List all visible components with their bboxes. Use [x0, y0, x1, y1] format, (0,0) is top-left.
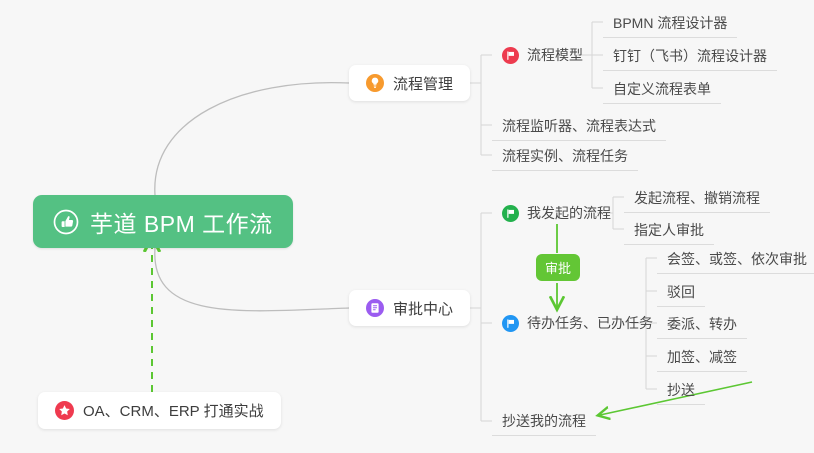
node-label-process-instance-task: 流程实例、流程任务	[502, 146, 628, 166]
root-node[interactable]: 芋道 BPM 工作流	[33, 195, 293, 248]
footnote-label-integration: OA、CRM、ERP 打通实战	[83, 400, 264, 421]
node-label-multi-sign: 会签、或签、依次审批	[667, 249, 807, 269]
node-label-assignee-approval: 指定人审批	[634, 220, 704, 240]
annotation-approval-label: 审批	[545, 258, 571, 277]
node-delegate-transfer[interactable]: 委派、转办	[657, 309, 747, 339]
node-process-listener-expression[interactable]: 流程监听器、流程表达式	[492, 111, 666, 141]
node-label-start-cancel-process: 发起流程、撤销流程	[634, 188, 760, 208]
node-label-my-started-process: 我发起的流程	[527, 203, 611, 223]
flag-icon	[502, 47, 519, 64]
node-dingtalk-feishu-designer[interactable]: 钉钉（飞书）流程设计器	[603, 41, 777, 71]
annotation-approval: 审批	[536, 254, 580, 281]
node-assignee-approval[interactable]: 指定人审批	[624, 215, 714, 245]
node-label-cc-to-me-process: 抄送我的流程	[502, 411, 586, 431]
node-bpmn-designer[interactable]: BPMN 流程设计器	[603, 8, 737, 38]
node-cc-to-me-process[interactable]: 抄送我的流程	[492, 406, 596, 436]
mindmap-canvas: 芋道 BPM 工作流 流程管理 流程模型 BPMN 流程设计器 钉钉（飞书）流程	[0, 0, 814, 453]
star-icon	[55, 401, 74, 420]
node-label-todo-done-task: 待办任务、已办任务	[527, 313, 653, 333]
node-start-cancel-process[interactable]: 发起流程、撤销流程	[624, 183, 770, 213]
lightbulb-icon	[366, 74, 384, 92]
branch-label-process-management: 流程管理	[393, 73, 453, 94]
thumbs-up-icon	[53, 209, 79, 235]
node-label-bpmn-designer: BPMN 流程设计器	[613, 13, 727, 33]
node-label-custom-process-form: 自定义流程表单	[613, 79, 711, 99]
branch-node-approval-center[interactable]: 审批中心	[349, 290, 470, 326]
document-icon	[366, 299, 384, 317]
node-my-started-process[interactable]: 我发起的流程	[492, 198, 621, 228]
node-process-instance-task[interactable]: 流程实例、流程任务	[492, 141, 638, 171]
branch-node-process-management[interactable]: 流程管理	[349, 65, 470, 101]
node-add-remove-sign[interactable]: 加签、减签	[657, 342, 747, 372]
node-label-carbon-copy: 抄送	[667, 380, 695, 400]
node-process-model[interactable]: 流程模型	[492, 40, 593, 70]
node-label-reject: 驳回	[667, 282, 695, 302]
footnote-node-integration[interactable]: OA、CRM、ERP 打通实战	[38, 392, 281, 429]
flag-icon	[502, 315, 519, 332]
node-todo-done-task[interactable]: 待办任务、已办任务	[492, 308, 663, 338]
node-carbon-copy[interactable]: 抄送	[657, 375, 705, 405]
branch-label-approval-center: 审批中心	[393, 298, 453, 319]
node-label-delegate-transfer: 委派、转办	[667, 314, 737, 334]
root-label: 芋道 BPM 工作流	[90, 205, 273, 239]
node-label-dingtalk-feishu-designer: 钉钉（飞书）流程设计器	[613, 46, 767, 66]
node-reject[interactable]: 驳回	[657, 277, 705, 307]
flag-icon	[502, 205, 519, 222]
node-multi-sign[interactable]: 会签、或签、依次审批	[657, 244, 814, 274]
node-label-process-model: 流程模型	[527, 45, 583, 65]
node-label-add-remove-sign: 加签、减签	[667, 347, 737, 367]
node-label-process-listener-expression: 流程监听器、流程表达式	[502, 116, 656, 136]
node-custom-process-form[interactable]: 自定义流程表单	[603, 74, 721, 104]
